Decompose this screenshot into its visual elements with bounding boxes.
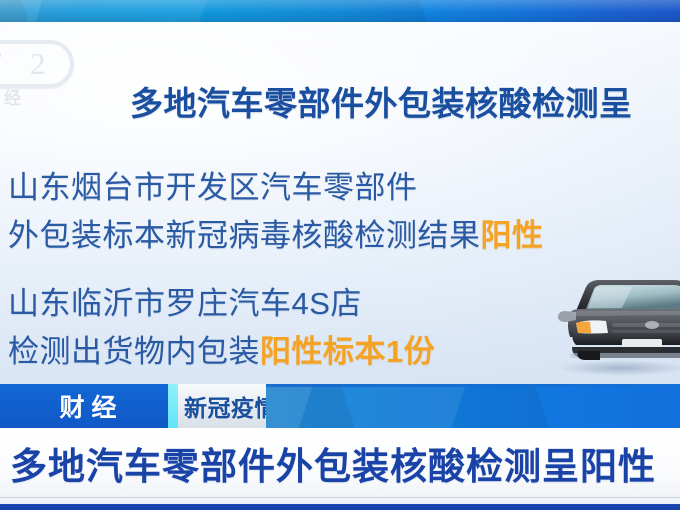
banner-topic-block: 新冠疫情防控 (178, 384, 266, 428)
ticker-headline-text: 多地汽车零部件外包装核酸检测呈阳性 (10, 428, 656, 498)
content-panel: V 2 经 (0, 22, 680, 384)
headline-banner: 多地汽车零部件外包装核酸检测呈 (130, 78, 680, 130)
info-block-1-line-2: 外包装标本新冠病毒核酸检测结果阳性 (8, 212, 628, 260)
channel-logo-watermark: V 2 经 (0, 40, 74, 104)
banner-category-block: 财经 (0, 384, 168, 428)
highlight-positive-sample-count: 阳性标本1份 (260, 334, 435, 369)
info-block-2-line-1: 山东临沂市罗庄汽车4S店 (8, 280, 628, 328)
logo-number-2: 2 (30, 46, 46, 82)
banner-category-label: 财经 (44, 388, 123, 424)
text-segment: 山东临沂市罗庄汽车4S店 (8, 286, 362, 321)
logo-letter-v: V (0, 48, 3, 82)
top-bar-sheen (0, 0, 680, 22)
logo-sub-label: 经 (4, 84, 21, 109)
banner-topic-clip: 新冠疫情防控 (178, 384, 266, 428)
info-block-1: 山东烟台市开发区汽车零部件 外包装标本新冠病毒核酸检测结果阳性 (8, 164, 628, 260)
info-block-1-line-1: 山东烟台市开发区汽车零部件 (8, 164, 628, 212)
text-segment: 山东烟台市开发区汽车零部件 (8, 170, 418, 205)
info-block-2: 山东临沂市罗庄汽车4S店 检测出货物内包装阳性标本1份 (8, 280, 628, 376)
top-accent-bar (0, 0, 680, 22)
banner-cyan-divider (168, 384, 178, 428)
text-segment: 检测出货物内包装 (8, 334, 260, 369)
text-segment: 外包装标本新冠病毒核酸检测结果 (8, 218, 481, 253)
headline-text: 多地汽车零部件外包装核酸检测呈 (130, 85, 633, 122)
bottom-ticker: 多地汽车零部件外包装核酸检测呈阳性 (0, 428, 680, 504)
banner-topic-label: 新冠疫情防控 (184, 384, 266, 428)
highlight-positive-result: 阳性 (481, 218, 544, 253)
lower-banner: 财经 新冠疫情防控 (0, 384, 680, 428)
bottom-blue-strip (0, 504, 680, 510)
broadcast-screen: V 2 经 (0, 0, 680, 510)
ticker-divider-rule (0, 497, 680, 498)
info-block-2-line-2: 检测出货物内包装阳性标本1份 (8, 328, 628, 376)
